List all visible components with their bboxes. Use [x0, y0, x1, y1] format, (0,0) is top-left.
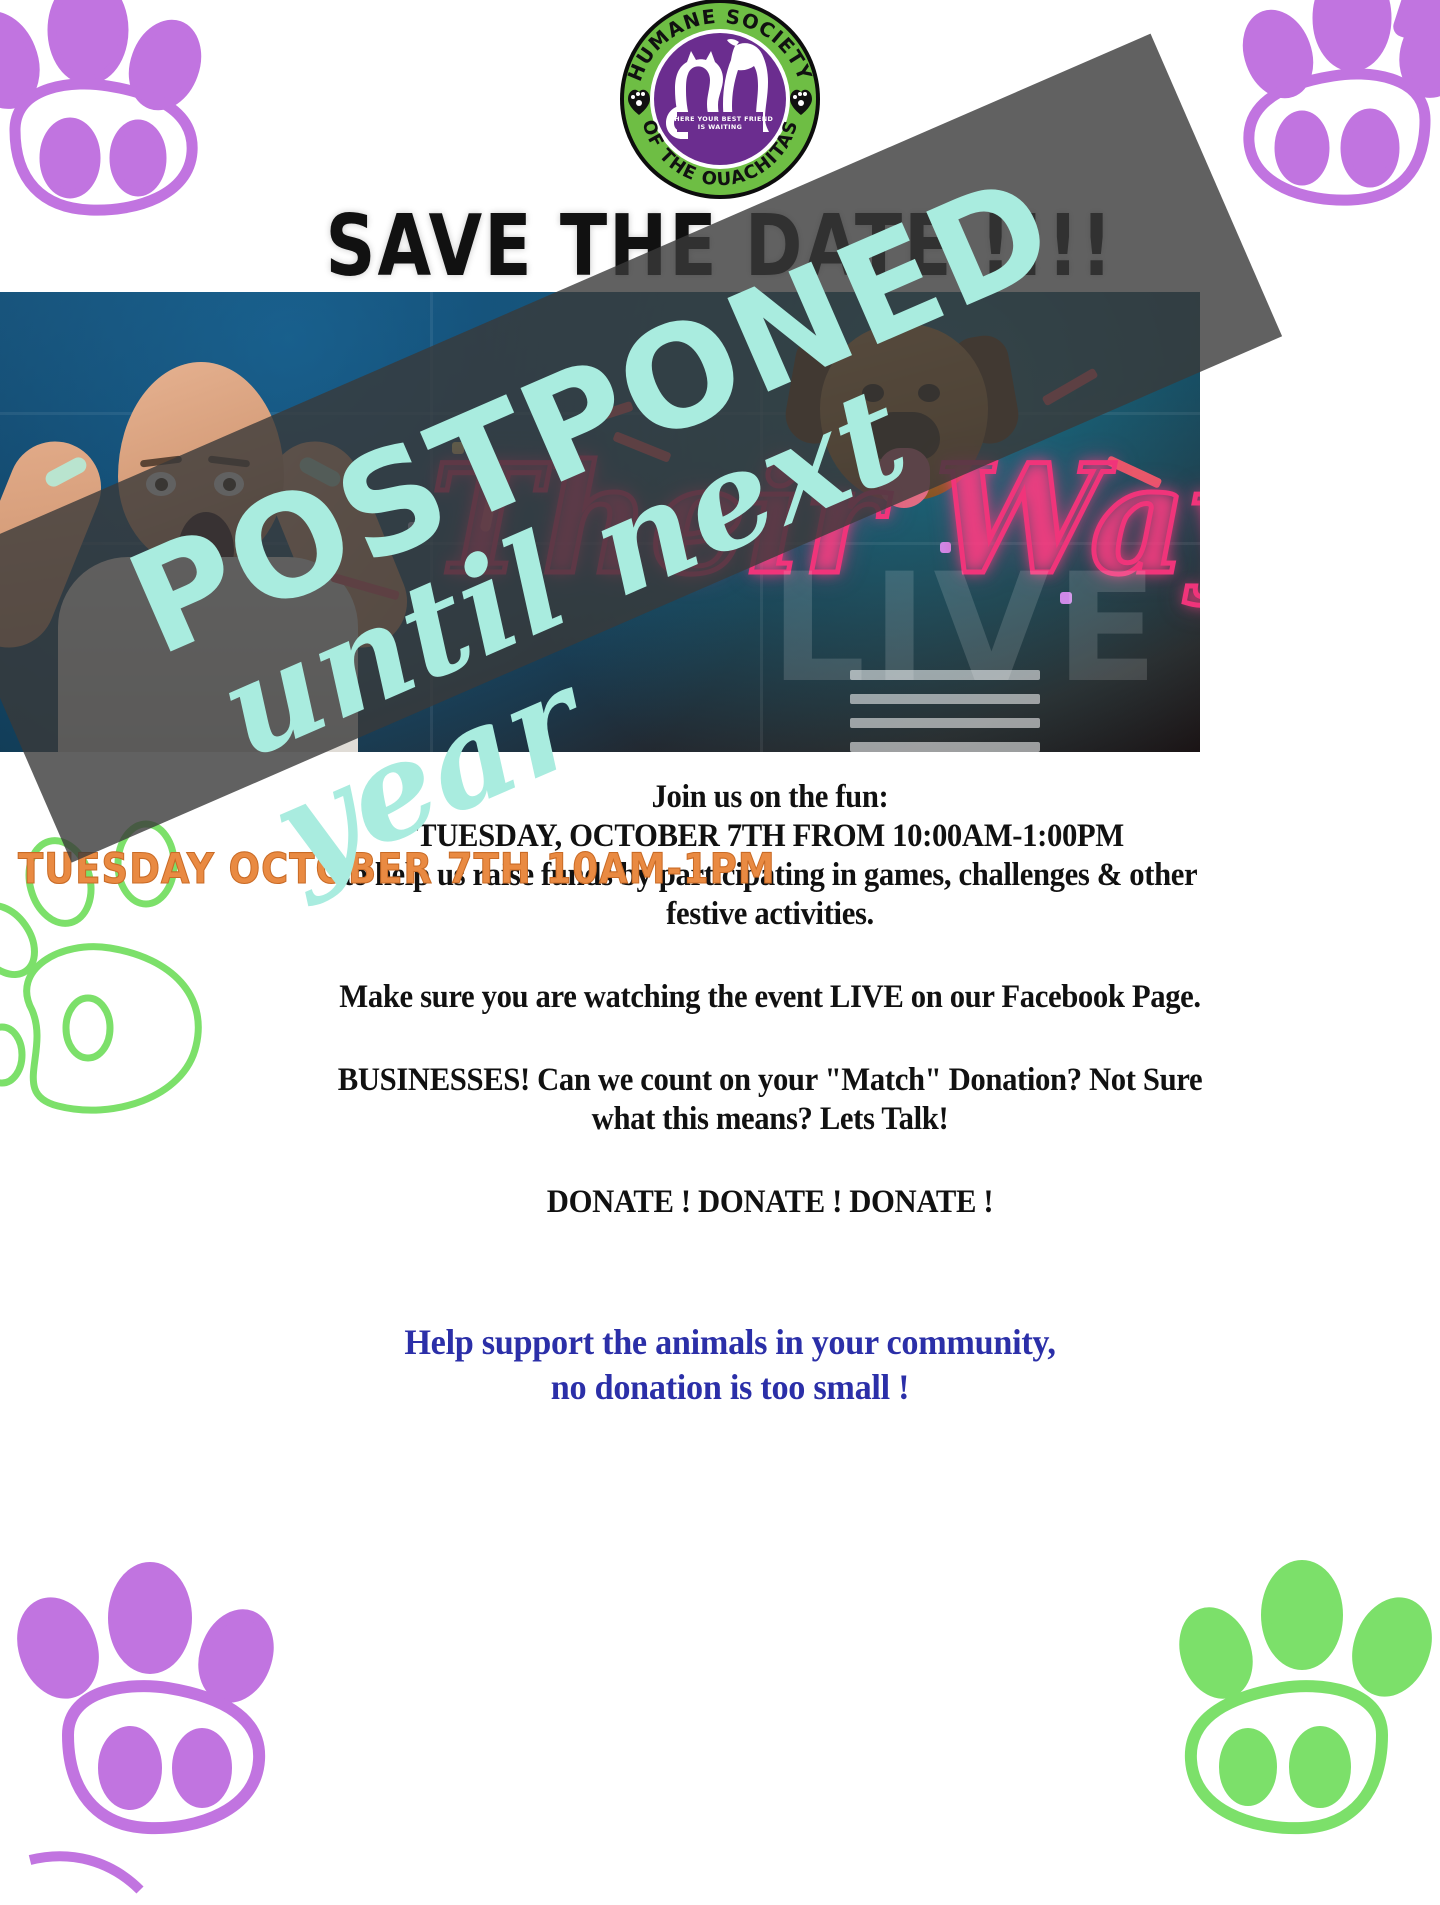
paw-print-top-right-icon	[1180, 0, 1440, 220]
body-line-facebook: Make sure you are watching the event LIV…	[184, 978, 1356, 1017]
body-line-donate: DONATE ! DONATE ! DONATE !	[184, 1183, 1356, 1222]
paw-print-bottom-right-icon	[1120, 1555, 1440, 1905]
flyer-page: HUMANE SOCIETY OF THE OUACHITAS	[0, 0, 1440, 1902]
support-line-2: no donation is too small !	[189, 1365, 1272, 1410]
logo-tagline-line2: IS WAITING	[698, 123, 743, 131]
support-line-1: Help support the animals in your communi…	[189, 1320, 1272, 1365]
logo-tagline-line1: WHERE YOUR BEST FRIEND	[667, 115, 773, 123]
body-line-business-2: what this means? Lets Talk!	[184, 1100, 1356, 1139]
humane-society-logo: HUMANE SOCIETY OF THE OUACHITAS	[615, 0, 825, 204]
body-line-business-1: BUSINESSES! Can we count on your "Match"…	[184, 1061, 1356, 1100]
paw-print-bottom-left-icon	[0, 1560, 330, 1905]
body-line-activities: festive activities.	[184, 895, 1356, 934]
support-message: Help support the animals in your communi…	[189, 1320, 1272, 1409]
paw-print-top-left-icon	[0, 0, 260, 220]
